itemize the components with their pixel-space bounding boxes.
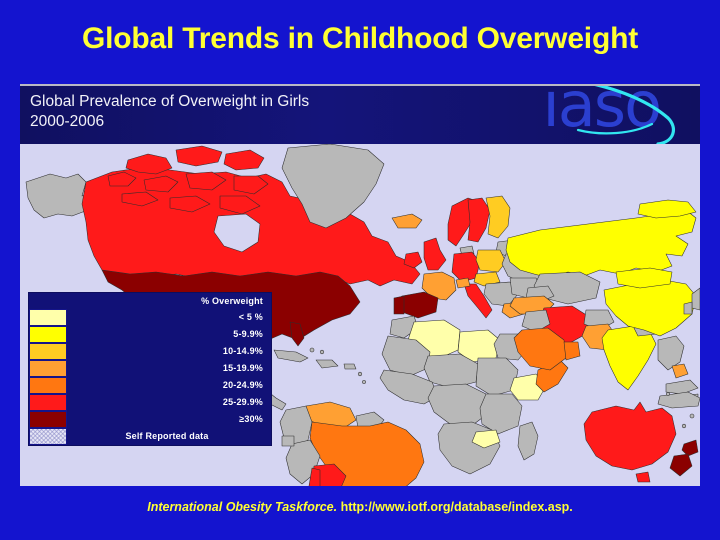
- legend-swatch-self-reported: [29, 428, 67, 445]
- region-pacific-islet-2: [682, 424, 686, 428]
- legend-swatch-25-29: [29, 394, 67, 411]
- source-footer: International Obesity Taskforce. http://…: [0, 500, 720, 514]
- footer-url: http://www.iotf.org/database/index.asp.: [341, 500, 573, 514]
- legend-swatch-spacer: [29, 293, 67, 309]
- legend-swatch-30plus: [29, 411, 67, 428]
- region-puerto-rico: [344, 364, 356, 369]
- region-pacific-islet-3: [666, 392, 669, 395]
- region-switzerland: [456, 278, 470, 288]
- legend-swatch-20-24: [29, 377, 67, 394]
- legend-label-15-19: 15-19.9%: [67, 360, 271, 377]
- legend-title: % Overweight: [67, 293, 271, 309]
- legend-swatch-15-19: [29, 360, 67, 377]
- world-map-container: % Overweight < 5 % 5-9.9% 10-14.9% 15-19…: [20, 144, 700, 486]
- region-caribbean-islet-4: [362, 380, 365, 383]
- legend-label-lt5: < 5 %: [67, 309, 271, 326]
- figure-header: Global Prevalence of Overweight in Girls…: [20, 86, 700, 144]
- figure-header-line1: Global Prevalence of Overweight in Girls: [30, 93, 309, 110]
- legend-row: 10-14.9%: [29, 343, 271, 360]
- map-figure-panel: Global Prevalence of Overweight in Girls…: [20, 84, 700, 484]
- legend-row: < 5 %: [29, 309, 271, 326]
- iaso-swoosh-icon: [482, 86, 692, 144]
- legend-label-20-24: 20-24.9%: [67, 377, 271, 394]
- region-korea: [684, 302, 692, 314]
- legend-row-self-reported: Self Reported data: [29, 428, 271, 445]
- legend-row: 5-9.9%: [29, 326, 271, 343]
- legend-label-self-reported: Self Reported data: [67, 428, 271, 445]
- legend-swatch-lt5: [29, 309, 67, 326]
- region-portugal: [394, 296, 404, 314]
- legend-row: ≥30%: [29, 411, 271, 428]
- legend-swatch-5-9: [29, 326, 67, 343]
- region-mongolia: [616, 268, 672, 288]
- legend-row: 25-29.9%: [29, 394, 271, 411]
- region-caribbean-islet-2: [320, 350, 324, 354]
- legend-header-row: % Overweight: [29, 293, 271, 309]
- legend-label-5-9: 5-9.9%: [67, 326, 271, 343]
- legend-label-10-14: 10-14.9%: [67, 343, 271, 360]
- legend-row: 15-19.9%: [29, 360, 271, 377]
- region-pacific-islet-1: [690, 414, 694, 418]
- region-caribbean-islet-1: [310, 348, 314, 352]
- figure-header-text: Global Prevalence of Overweight in Girls…: [30, 92, 309, 132]
- legend-swatch-10-14: [29, 343, 67, 360]
- legend-row: 20-24.9%: [29, 377, 271, 394]
- figure-header-line2: 2000-2006: [30, 112, 309, 132]
- region-caribbean-islet-3: [358, 372, 362, 376]
- map-legend: % Overweight < 5 % 5-9.9% 10-14.9% 15-19…: [28, 292, 272, 446]
- region-tasmania: [636, 472, 650, 482]
- footer-organisation: International Obesity Taskforce.: [147, 500, 337, 514]
- region-ecuador: [282, 436, 294, 446]
- presentation-slide: Global Trends in Childhood Overweight Gl…: [0, 0, 720, 540]
- page-title: Global Trends in Childhood Overweight: [0, 22, 720, 56]
- legend-label-25-29: 25-29.9%: [67, 394, 271, 411]
- legend-label-30plus: ≥30%: [67, 411, 271, 428]
